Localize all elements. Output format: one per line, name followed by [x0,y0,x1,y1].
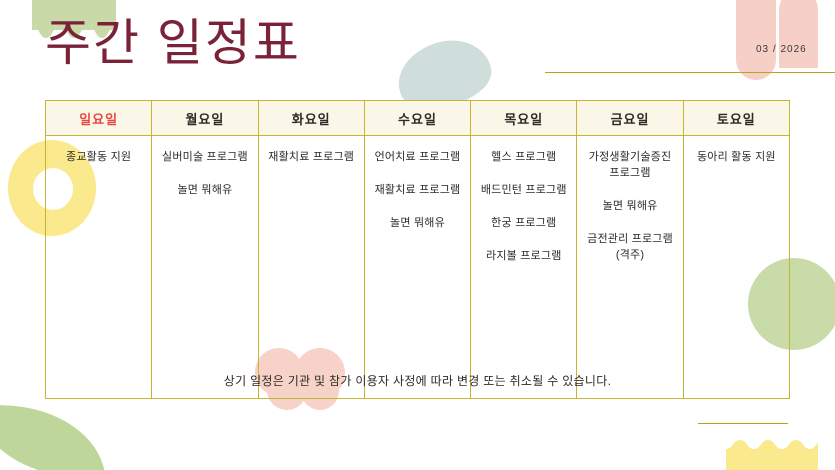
schedule-item: 실버미술 프로그램 [162,150,248,166]
schedule-item: 라지볼 프로그램 [486,249,562,265]
table-header-cell-5: 금요일 [577,101,683,136]
schedule-cell-items: 재활치료 프로그램 [263,150,360,166]
schedule-item: 놀면 뭐해유 [177,183,232,199]
table-header-cell-2: 화요일 [258,101,364,136]
schedule-item: 재활치료 프로그램 [375,183,461,199]
schedule-item: 동아리 활동 지원 [697,150,776,166]
table-header-row: 일요일월요일화요일수요일목요일금요일토요일 [46,101,790,136]
scallop-bottom-icon [726,440,818,470]
pink-rounded-left-decoration [736,0,776,80]
schedule-cell-0: 종교활동 지원 [46,136,152,399]
table-header: 일요일월요일화요일수요일목요일금요일토요일 [46,101,790,136]
schedule-cell-5: 가정생활기술증진 프로그램놀면 뭐해유금전관리 프로그램 (격주) [577,136,683,399]
schedule-cell-4: 헬스 프로그램배드민턴 프로그램한궁 프로그램라지볼 프로그램 [471,136,577,399]
footer-note: 상기 일정은 기관 및 참가 이용자 사정에 따라 변경 또는 취소될 수 있습… [0,372,835,389]
schedule-cell-items: 동아리 활동 지원 [688,150,785,166]
footer-divider-rule [698,423,788,424]
schedule-cell-1: 실버미술 프로그램놀면 뭐해유 [152,136,258,399]
schedule-cell-3: 언어치료 프로그램재활치료 프로그램놀면 뭐해유 [364,136,470,399]
table-header-cell-6: 토요일 [683,101,789,136]
weekly-schedule-table: 일요일월요일화요일수요일목요일금요일토요일 종교활동 지원실버미술 프로그램놀면… [45,100,790,399]
schedule-cell-items: 헬스 프로그램배드민턴 프로그램한궁 프로그램라지볼 프로그램 [475,150,572,265]
yellow-scallop-decoration [726,440,818,470]
schedule-cell-items: 종교활동 지원 [50,150,147,166]
schedule-item: 놀면 뭐해유 [390,216,445,232]
schedule-cell-6: 동아리 활동 지원 [683,136,789,399]
schedule-item: 가정생활기술증진 프로그램 [589,150,672,182]
slide-canvas: 주간 일정표 03 / 2026 일요일월요일화요일수요일목요일금요일토요일 종… [0,0,835,470]
schedule-cell-items: 가정생활기술증진 프로그램놀면 뭐해유금전관리 프로그램 (격주) [581,150,678,264]
schedule-item: 재활치료 프로그램 [268,150,354,166]
pink-rounded-right-decoration [779,0,818,68]
schedule-item: 한궁 프로그램 [491,216,556,232]
green-leaf-decoration [0,390,105,470]
schedule-item: 놀면 뭐해유 [603,199,658,215]
header-divider-rule [545,72,835,73]
table-header-cell-4: 목요일 [471,101,577,136]
table-header-cell-0: 일요일 [46,101,152,136]
schedule-item: 종교활동 지원 [66,150,131,166]
schedule-item: 헬스 프로그램 [491,150,556,166]
schedule-item: 배드민턴 프로그램 [481,183,567,199]
schedule-cell-items: 실버미술 프로그램놀면 뭐해유 [156,150,253,199]
schedule-item: 금전관리 프로그램 (격주) [587,232,673,264]
table-row: 종교활동 지원실버미술 프로그램놀면 뭐해유재활치료 프로그램언어치료 프로그램… [46,136,790,399]
table-body: 종교활동 지원실버미술 프로그램놀면 뭐해유재활치료 프로그램언어치료 프로그램… [46,136,790,399]
schedule-cell-2: 재활치료 프로그램 [258,136,364,399]
table-header-cell-1: 월요일 [152,101,258,136]
schedule-cell-items: 언어치료 프로그램재활치료 프로그램놀면 뭐해유 [369,150,466,232]
schedule-item: 언어치료 프로그램 [375,150,461,166]
page-title: 주간 일정표 [45,18,301,68]
date-label: 03 / 2026 [756,44,807,55]
table-header-cell-3: 수요일 [364,101,470,136]
